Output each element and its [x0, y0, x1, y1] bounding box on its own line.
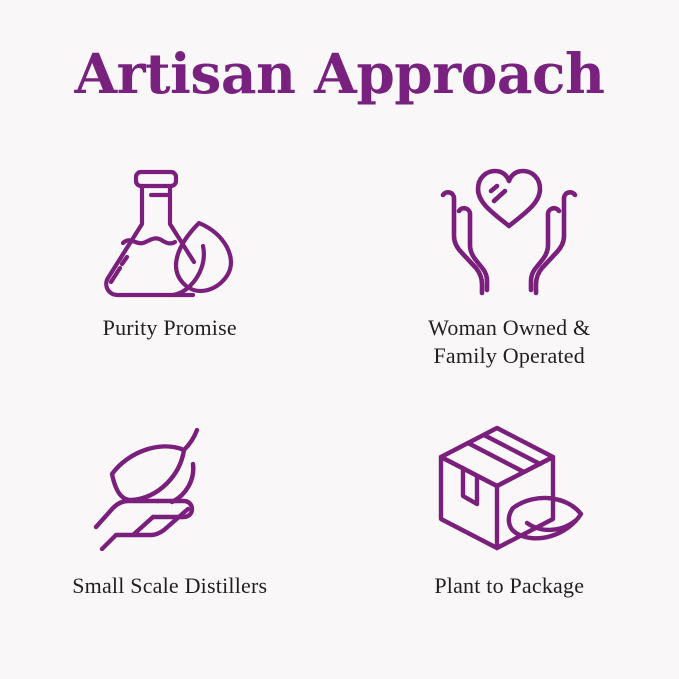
feature-label: Plant to Package [434, 572, 584, 600]
feature-item-purity-promise: Purity Promise [0, 150, 340, 400]
feature-label-line1: Small Scale Distillers [72, 573, 267, 598]
page-title: Artisan Approach [0, 44, 679, 105]
hand-leaf-icon [0, 418, 340, 558]
box-leaf-icon [340, 418, 679, 558]
feature-label: Small Scale Distillers [72, 572, 267, 600]
feature-item-woman-owned: Woman Owned & Family Operated [340, 150, 679, 400]
feature-label-line1: Purity Promise [103, 315, 237, 340]
artisan-approach-panel: Artisan Approach [0, 0, 679, 679]
feature-label-line1: Plant to Package [434, 573, 584, 598]
feature-item-small-scale-distillers: Small Scale Distillers [0, 400, 340, 650]
feature-label: Purity Promise [103, 314, 237, 342]
flask-leaf-icon [0, 160, 340, 300]
feature-label-line1: Woman Owned & [428, 315, 590, 340]
hands-heart-icon [340, 160, 679, 300]
feature-grid: Purity Promise [0, 150, 679, 650]
feature-label-line2: Family Operated [428, 342, 590, 370]
feature-item-plant-to-package: Plant to Package [340, 400, 679, 650]
feature-label: Woman Owned & Family Operated [428, 314, 590, 369]
